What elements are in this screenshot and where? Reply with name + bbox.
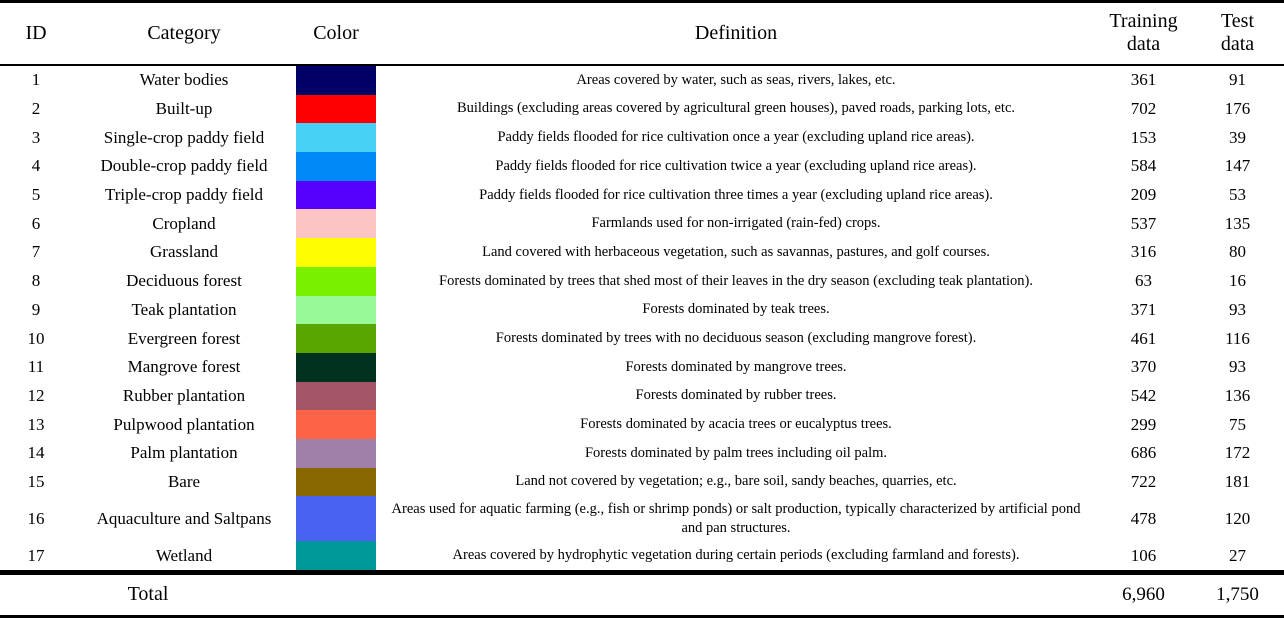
row-definition: Forests dominated by mangrove trees. xyxy=(376,353,1096,382)
row-training-count: 361 xyxy=(1096,65,1191,95)
row-test-count: 16 xyxy=(1191,267,1284,296)
row-test-count: 75 xyxy=(1191,410,1284,439)
row-test-count: 176 xyxy=(1191,95,1284,124)
row-id: 7 xyxy=(0,238,72,267)
table-row: 6CroplandFarmlands used for non-irrigate… xyxy=(0,209,1284,238)
row-definition: Forests dominated by teak trees. xyxy=(376,296,1096,325)
row-category: Mangrove forest xyxy=(72,353,296,382)
row-training-count: 209 xyxy=(1096,181,1191,210)
land-cover-legend-table: ID Category Color Definition Training da… xyxy=(0,0,1284,618)
row-id: 17 xyxy=(0,541,72,571)
total-definition-empty xyxy=(376,574,1096,617)
header-row: ID Category Color Definition Training da… xyxy=(0,3,1284,65)
row-color-cell xyxy=(296,181,376,210)
table-row: 2Built-upBuildings (excluding areas cove… xyxy=(0,95,1284,124)
row-category: Evergreen forest xyxy=(72,324,296,353)
column-header-test-line1: Test xyxy=(1193,10,1282,33)
row-category: Aquaculture and Saltpans xyxy=(72,496,296,541)
table-row: 11Mangrove forestForests dominated by ma… xyxy=(0,353,1284,382)
column-header-category: Category xyxy=(72,3,296,65)
row-test-count: 135 xyxy=(1191,209,1284,238)
row-color-cell xyxy=(296,296,376,325)
row-id: 3 xyxy=(0,123,72,152)
row-color-cell xyxy=(296,95,376,124)
row-definition: Areas covered by hydrophytic vegetation … xyxy=(376,541,1096,571)
row-id: 13 xyxy=(0,410,72,439)
row-training-count: 461 xyxy=(1096,324,1191,353)
row-training-count: 686 xyxy=(1096,439,1191,468)
total-row: Total 6,960 1,750 xyxy=(0,574,1284,617)
color-swatch xyxy=(296,324,376,353)
row-color-cell xyxy=(296,541,376,571)
table-row: 14Palm plantationForests dominated by pa… xyxy=(0,439,1284,468)
table-row: 15BareLand not covered by vegetation; e.… xyxy=(0,468,1284,497)
row-color-cell xyxy=(296,123,376,152)
row-category: Deciduous forest xyxy=(72,267,296,296)
row-test-count: 80 xyxy=(1191,238,1284,267)
row-id: 4 xyxy=(0,152,72,181)
row-definition: Land not covered by vegetation; e.g., ba… xyxy=(376,468,1096,497)
row-color-cell xyxy=(296,209,376,238)
row-test-count: 93 xyxy=(1191,296,1284,325)
row-test-count: 147 xyxy=(1191,152,1284,181)
row-test-count: 116 xyxy=(1191,324,1284,353)
row-test-count: 120 xyxy=(1191,496,1284,541)
row-category: Rubber plantation xyxy=(72,382,296,411)
row-color-cell xyxy=(296,496,376,541)
row-test-count: 93 xyxy=(1191,353,1284,382)
color-swatch xyxy=(296,468,376,497)
row-training-count: 537 xyxy=(1096,209,1191,238)
row-category: Built-up xyxy=(72,95,296,124)
row-color-cell xyxy=(296,468,376,497)
row-id: 16 xyxy=(0,496,72,541)
row-id: 8 xyxy=(0,267,72,296)
row-test-count: 172 xyxy=(1191,439,1284,468)
row-id: 2 xyxy=(0,95,72,124)
color-swatch xyxy=(296,382,376,411)
row-training-count: 299 xyxy=(1096,410,1191,439)
column-header-definition: Definition xyxy=(376,3,1096,65)
row-color-cell xyxy=(296,382,376,411)
total-test-value: 1,750 xyxy=(1191,574,1284,617)
row-definition: Forests dominated by rubber trees. xyxy=(376,382,1096,411)
row-training-count: 153 xyxy=(1096,123,1191,152)
row-definition: Forests dominated by trees that shed mos… xyxy=(376,267,1096,296)
row-id: 11 xyxy=(0,353,72,382)
table-row: 16Aquaculture and SaltpansAreas used for… xyxy=(0,496,1284,541)
row-category: Cropland xyxy=(72,209,296,238)
column-header-color: Color xyxy=(296,3,376,65)
row-definition: Areas covered by water, such as seas, ri… xyxy=(376,65,1096,95)
row-training-count: 106 xyxy=(1096,541,1191,571)
row-id: 5 xyxy=(0,181,72,210)
row-color-cell xyxy=(296,439,376,468)
color-swatch xyxy=(296,152,376,181)
row-category: Water bodies xyxy=(72,65,296,95)
row-id: 10 xyxy=(0,324,72,353)
row-color-cell xyxy=(296,410,376,439)
table-footer: Total 6,960 1,750 xyxy=(0,571,1284,617)
row-id: 6 xyxy=(0,209,72,238)
row-definition: Farmlands used for non-irrigated (rain-f… xyxy=(376,209,1096,238)
table-row: 7GrasslandLand covered with herbaceous v… xyxy=(0,238,1284,267)
table-row: 5Triple-crop paddy fieldPaddy fields flo… xyxy=(0,181,1284,210)
total-label: Total xyxy=(0,574,296,617)
row-color-cell xyxy=(296,353,376,382)
table-row: 17WetlandAreas covered by hydrophytic ve… xyxy=(0,541,1284,571)
row-training-count: 584 xyxy=(1096,152,1191,181)
row-test-count: 39 xyxy=(1191,123,1284,152)
row-definition: Forests dominated by trees with no decid… xyxy=(376,324,1096,353)
table-row: 13Pulpwood plantationForests dominated b… xyxy=(0,410,1284,439)
color-swatch xyxy=(296,410,376,439)
row-definition: Forests dominated by acacia trees or euc… xyxy=(376,410,1096,439)
row-definition: Paddy fields flooded for rice cultivatio… xyxy=(376,123,1096,152)
land-cover-legend-table-container: ID Category Color Definition Training da… xyxy=(0,0,1284,618)
color-swatch xyxy=(296,181,376,210)
row-category: Single-crop paddy field xyxy=(72,123,296,152)
table-row: 12Rubber plantationForests dominated by … xyxy=(0,382,1284,411)
table-row: 1Water bodiesAreas covered by water, suc… xyxy=(0,65,1284,95)
row-training-count: 542 xyxy=(1096,382,1191,411)
table-header: ID Category Color Definition Training da… xyxy=(0,2,1284,66)
row-definition: Paddy fields flooded for rice cultivatio… xyxy=(376,181,1096,210)
column-header-id: ID xyxy=(0,3,72,65)
table-row: 4Double-crop paddy fieldPaddy fields flo… xyxy=(0,152,1284,181)
row-id: 15 xyxy=(0,468,72,497)
row-id: 9 xyxy=(0,296,72,325)
column-header-test-line2: data xyxy=(1193,33,1282,56)
row-color-cell xyxy=(296,238,376,267)
color-swatch xyxy=(296,439,376,468)
row-color-cell xyxy=(296,65,376,95)
row-id: 1 xyxy=(0,65,72,95)
table-row: 10Evergreen forestForests dominated by t… xyxy=(0,324,1284,353)
row-test-count: 181 xyxy=(1191,468,1284,497)
row-training-count: 722 xyxy=(1096,468,1191,497)
table-row: 9Teak plantationForests dominated by tea… xyxy=(0,296,1284,325)
column-header-test-data: Test data xyxy=(1191,3,1284,65)
row-training-count: 316 xyxy=(1096,238,1191,267)
row-test-count: 91 xyxy=(1191,65,1284,95)
row-definition: Buildings (excluding areas covered by ag… xyxy=(376,95,1096,124)
row-category: Grassland xyxy=(72,238,296,267)
row-category: Pulpwood plantation xyxy=(72,410,296,439)
color-swatch xyxy=(296,296,376,325)
color-swatch xyxy=(296,209,376,238)
row-color-cell xyxy=(296,267,376,296)
total-color-empty xyxy=(296,574,376,617)
row-color-cell xyxy=(296,152,376,181)
row-definition: Land covered with herbaceous vegetation,… xyxy=(376,238,1096,267)
table-body: 1Water bodiesAreas covered by water, suc… xyxy=(0,65,1284,571)
row-color-cell xyxy=(296,324,376,353)
row-test-count: 136 xyxy=(1191,382,1284,411)
row-test-count: 27 xyxy=(1191,541,1284,571)
color-swatch xyxy=(296,123,376,152)
row-id: 14 xyxy=(0,439,72,468)
row-definition: Areas used for aquatic farming (e.g., fi… xyxy=(376,496,1096,541)
table-row: 8Deciduous forestForests dominated by tr… xyxy=(0,267,1284,296)
row-category: Wetland xyxy=(72,541,296,571)
row-id: 12 xyxy=(0,382,72,411)
row-training-count: 702 xyxy=(1096,95,1191,124)
column-header-training-line1: Training xyxy=(1098,10,1189,33)
row-definition: Forests dominated by palm trees includin… xyxy=(376,439,1096,468)
row-training-count: 370 xyxy=(1096,353,1191,382)
row-category: Palm plantation xyxy=(72,439,296,468)
row-category: Bare xyxy=(72,468,296,497)
row-training-count: 63 xyxy=(1096,267,1191,296)
table-row: 3Single-crop paddy fieldPaddy fields flo… xyxy=(0,123,1284,152)
color-swatch xyxy=(296,496,376,541)
column-header-training-line2: data xyxy=(1098,33,1189,56)
color-swatch xyxy=(296,541,376,570)
row-category: Teak plantation xyxy=(72,296,296,325)
color-swatch xyxy=(296,95,376,124)
row-training-count: 371 xyxy=(1096,296,1191,325)
color-swatch xyxy=(296,353,376,382)
color-swatch xyxy=(296,66,376,95)
row-test-count: 53 xyxy=(1191,181,1284,210)
color-swatch xyxy=(296,238,376,267)
column-header-training-data: Training data xyxy=(1096,3,1191,65)
row-category: Double-crop paddy field xyxy=(72,152,296,181)
row-category: Triple-crop paddy field xyxy=(72,181,296,210)
color-swatch xyxy=(296,267,376,296)
row-definition: Paddy fields flooded for rice cultivatio… xyxy=(376,152,1096,181)
total-training-value: 6,960 xyxy=(1096,574,1191,617)
row-training-count: 478 xyxy=(1096,496,1191,541)
